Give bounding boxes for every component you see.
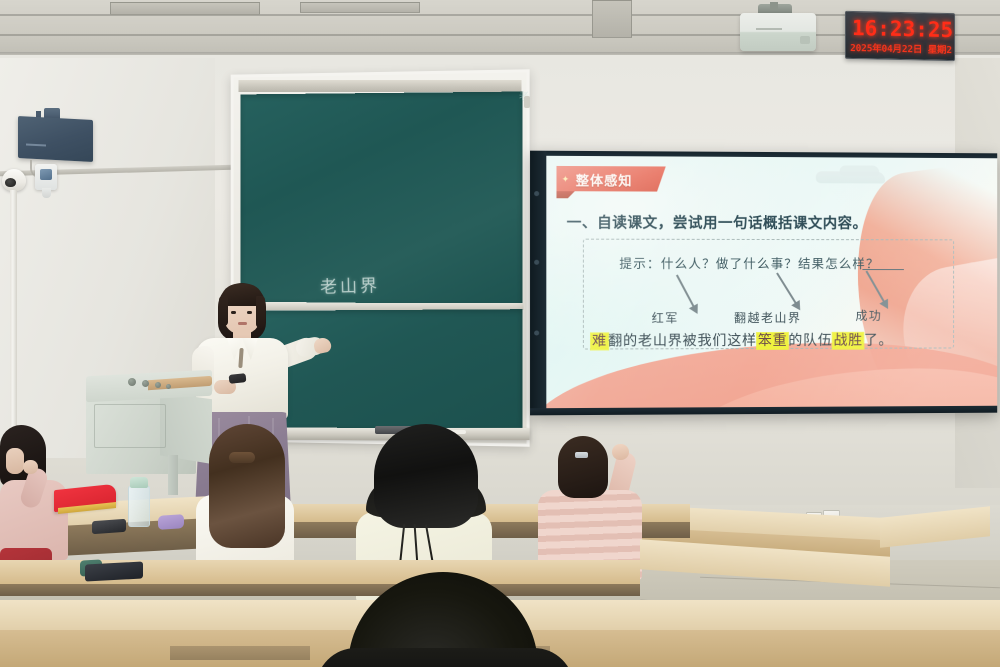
- smartphone[interactable]: [92, 519, 126, 534]
- lectern-leg: [168, 455, 178, 495]
- slide-banner-fold: [556, 191, 574, 198]
- teacher-eye: [231, 311, 236, 314]
- sentence-seg-4: 的队伍: [788, 333, 832, 349]
- slide-heading: 一、自读课文，尝试用一句话概括课文内容。: [567, 211, 868, 233]
- slide-answer-1: 红军: [652, 309, 679, 326]
- classroom-scene: 16:23:25 2025年04月22日 星期2 老 老山界: [0, 0, 1000, 667]
- student-hair: [558, 436, 608, 498]
- ceiling-vent: [300, 2, 420, 13]
- student-hand: [612, 444, 629, 460]
- ptz-camera-mount: [42, 188, 51, 198]
- sentence-seg-6: 了。: [864, 333, 893, 349]
- ptz-camera-lens-icon: [40, 169, 52, 180]
- lectern-speaker-hole: [128, 378, 136, 386]
- lectern-front-panel: [94, 404, 166, 448]
- highlight-word-1: 难: [591, 333, 608, 349]
- highlight-word-2: 笨重: [757, 333, 789, 349]
- student-hand: [23, 460, 38, 474]
- projection-screen[interactable]: ✦ 整体感知 一、自读课文，尝试用一句话概括课文内容。 提示：什么人？做了什么事…: [530, 151, 997, 416]
- lectern-speaker-hole: [142, 380, 149, 387]
- slide-banner-label: 整体感知: [576, 170, 633, 189]
- projector-lens: [800, 36, 810, 44]
- blackboard-top-rail: [238, 80, 521, 92]
- teacher-hair-right: [256, 296, 265, 328]
- lectern-speaker-hole: [166, 384, 171, 389]
- blackboard-handwriting: 老山界: [320, 271, 381, 298]
- student-hair: [209, 424, 285, 548]
- slide-cloud-decoration: [840, 165, 880, 175]
- projector-vent-line: [756, 28, 782, 30]
- smartphone[interactable]: [85, 561, 143, 581]
- bezel-screw: [534, 260, 539, 265]
- slide-answer-3: 成功: [855, 307, 882, 324]
- hair-clip: [575, 452, 588, 458]
- ceiling-vent: [110, 2, 260, 15]
- student-face: [6, 448, 24, 474]
- student-shoulders: [316, 648, 574, 667]
- slide-content: ✦ 整体感知 一、自读课文，尝试用一句话概括课文内容。 提示：什么人？做了什么事…: [546, 156, 997, 408]
- water-bottle[interactable]: [128, 485, 150, 527]
- ceiling-projector: [740, 13, 816, 51]
- screen-bezel-left: [530, 151, 546, 416]
- blackboard-upper-panel[interactable]: [240, 92, 522, 305]
- bench-shadow: [0, 584, 640, 596]
- sparkle-icon: ✦: [562, 174, 570, 185]
- clock-time-display: 16:23:25: [852, 16, 950, 42]
- wall-pipe: [10, 190, 17, 460]
- highlight-word-3: 战胜: [833, 333, 864, 349]
- ceiling-duct: [592, 0, 632, 38]
- slide-summary-sentence: 难翻的老山界被我们这样笨重的队伍战胜了。: [591, 330, 893, 351]
- dome-camera-lens-icon: [5, 178, 16, 187]
- clock-date-display: 2025年04月22日 星期2: [850, 40, 952, 56]
- lectern-side: [160, 392, 212, 464]
- bezel-screw: [534, 191, 539, 196]
- student-hair: [374, 424, 478, 528]
- blackboard-hinge: [524, 96, 530, 108]
- projector-arm: [770, 2, 778, 10]
- sentence-seg-2: 翻的老山界被我们这样: [608, 333, 757, 349]
- slide-answer-2: 翻越老山界: [734, 309, 801, 326]
- desk-seam: [170, 646, 310, 660]
- purple-cloth[interactable]: [158, 514, 184, 530]
- wall-mounted-monitor: [18, 116, 93, 162]
- led-wall-clock: 16:23:25 2025年04月22日 星期2: [845, 11, 955, 61]
- teacher-hair-left: [219, 296, 228, 326]
- teacher-mouth: [238, 322, 247, 325]
- teacher-eye: [247, 311, 252, 314]
- lectern-speaker-hole: [155, 382, 161, 388]
- bezel-screw: [534, 330, 539, 335]
- bottle-cap[interactable]: [130, 477, 148, 488]
- hair-bow: [229, 452, 255, 463]
- slide-hint-text: 提示：什么人？做了什么事？结果怎么样？: [619, 253, 879, 272]
- slide-hint-underline: [862, 269, 903, 270]
- presenter-clicker[interactable]: [229, 373, 247, 384]
